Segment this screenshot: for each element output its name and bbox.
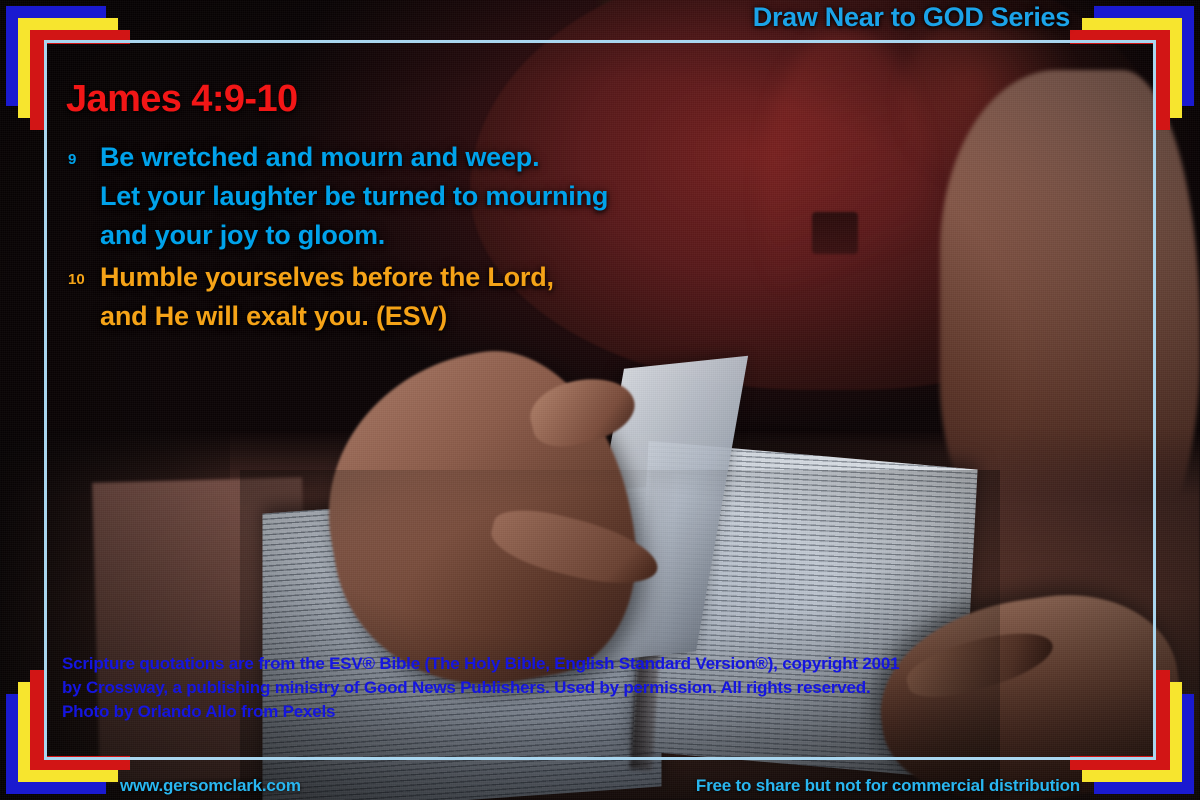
verse-line: and He will exalt you. (ESV) — [100, 297, 820, 336]
corner-decoration-bottom-right — [1088, 688, 1200, 800]
verse-line: and your joy to gloom. — [100, 216, 820, 255]
verse-text: Be wretched and mourn and weep. Let your… — [100, 138, 820, 255]
verse-text: Humble yourselves before the Lord, and H… — [100, 258, 820, 336]
verse-row: 9 Be wretched and mourn and weep. Let yo… — [60, 138, 820, 255]
verse-line: Be wretched and mourn and weep. — [100, 138, 820, 177]
corner-band-inner — [1070, 670, 1170, 770]
attribution-line: Scripture quotations are from the ESV® B… — [62, 652, 1082, 676]
verse-row: 10 Humble yourselves before the Lord, an… — [60, 258, 820, 336]
corner-band-inner — [1070, 30, 1170, 130]
footer: www.gersomclark.com Free to share but no… — [120, 776, 1080, 796]
scripture-slide: Draw Near to GOD Series James 4:9-10 9 B… — [0, 0, 1200, 800]
attribution-text: Scripture quotations are from the ESV® B… — [62, 652, 1082, 724]
license-notice: Free to share but not for commercial dis… — [696, 776, 1080, 796]
verse-block-10: 10 Humble yourselves before the Lord, an… — [60, 258, 820, 336]
verse-line: Humble yourselves before the Lord, — [100, 258, 820, 297]
corner-decoration-top-right — [1088, 0, 1200, 112]
attribution-line: Photo by Orlando Allo from Pexels — [62, 700, 1082, 724]
page-title: James 4:9-10 — [66, 78, 298, 121]
verse-number: 9 — [60, 138, 100, 168]
verse-number: 10 — [60, 258, 100, 288]
series-title: Draw Near to GOD Series — [753, 2, 1070, 33]
verse-line: Let your laughter be turned to mourning — [100, 177, 820, 216]
verse-block-9: 9 Be wretched and mourn and weep. Let yo… — [60, 138, 820, 255]
website-link[interactable]: www.gersomclark.com — [120, 776, 301, 796]
attribution-line: by Crossway, a publishing ministry of Go… — [62, 676, 1082, 700]
